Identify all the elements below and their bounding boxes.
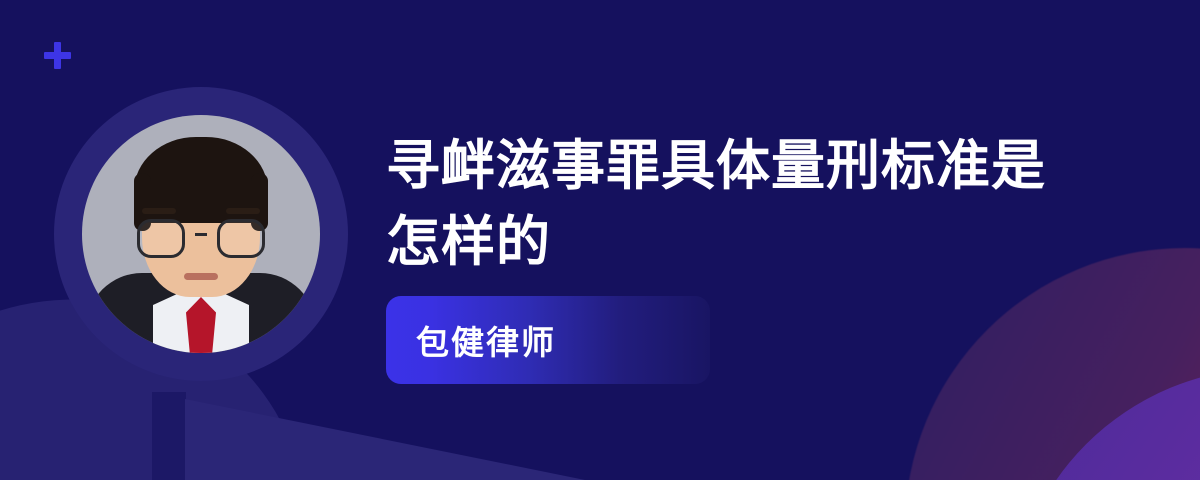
avatar-photo bbox=[82, 115, 320, 353]
portrait-mouth bbox=[184, 273, 218, 280]
portrait-glasses-right bbox=[217, 219, 265, 258]
portrait-brow-right bbox=[226, 208, 260, 214]
avatar bbox=[54, 87, 348, 381]
portrait-brow-left bbox=[142, 208, 176, 214]
lawyer-promo-banner: 寻衅滋事罪具体量刑标准是怎样的 包健律师 bbox=[0, 0, 1200, 480]
lawyer-name-button[interactable]: 包健律师 bbox=[386, 296, 710, 384]
decorative-bar-left bbox=[152, 392, 186, 480]
portrait-glasses-left bbox=[137, 219, 185, 258]
portrait-glasses-bridge bbox=[195, 233, 207, 236]
plus-icon bbox=[44, 42, 71, 69]
page-title: 寻衅滋事罪具体量刑标准是怎样的 bbox=[386, 128, 1086, 280]
content-column: 寻衅滋事罪具体量刑标准是怎样的 包健律师 bbox=[386, 0, 1146, 480]
